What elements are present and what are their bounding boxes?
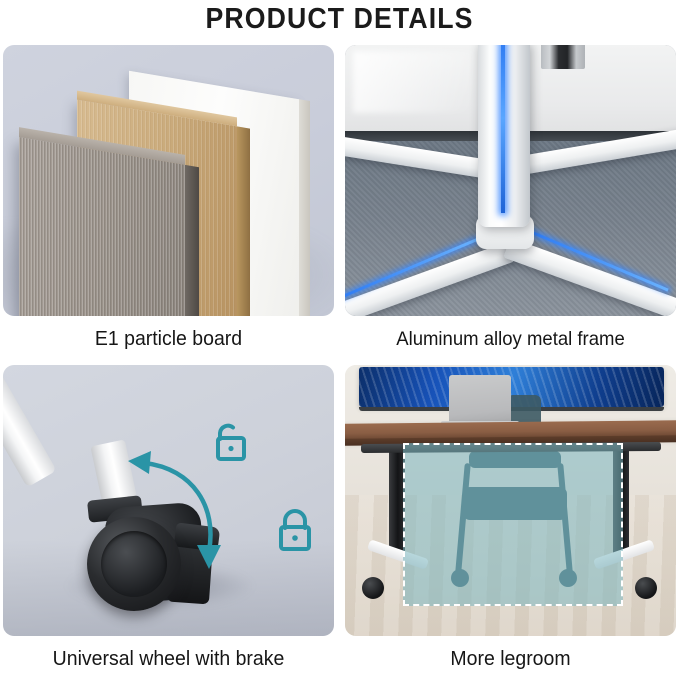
page-title: PRODUCT DETAILS	[27, 2, 652, 36]
caption-metal-frame: Aluminum alloy metal frame	[353, 316, 667, 362]
laptop	[449, 375, 511, 423]
panel-grid: E1 particle board	[3, 45, 676, 670]
caption-universal-wheel: Universal wheel with brake	[11, 636, 325, 682]
curved-double-arrow-icon	[125, 445, 235, 580]
gray-board	[19, 137, 185, 316]
gray-board-edge	[185, 165, 199, 316]
panel-metal-frame: Aluminum alloy metal frame	[345, 45, 676, 362]
caption-particle-board: E1 particle board	[11, 316, 325, 362]
caster-wheel-left	[362, 577, 384, 599]
panel-particle-board: E1 particle board	[3, 45, 334, 362]
mounting-bracket	[541, 45, 585, 69]
table-leg-upper	[3, 367, 57, 488]
caption-more-legroom: More legroom	[353, 636, 667, 682]
panel-universal-wheel: Universal wheel with brake	[3, 365, 334, 682]
more-legroom-image	[345, 365, 676, 636]
white-board-edge	[299, 99, 310, 316]
universal-wheel-image	[3, 365, 334, 636]
caster-wheel-right	[635, 577, 657, 599]
product-details-infographic: PRODUCT DETAILS E1 particle board	[0, 0, 679, 673]
vertical-column	[478, 45, 530, 227]
column-blue-glow	[501, 45, 505, 213]
metal-frame-image	[345, 45, 676, 316]
panel-more-legroom: More legroom	[345, 365, 676, 682]
lock-icon	[275, 507, 315, 551]
particle-board-image	[3, 45, 334, 316]
legroom-highlight	[403, 443, 623, 606]
surface-reflection	[353, 51, 473, 113]
tan-board-edge	[237, 126, 250, 316]
